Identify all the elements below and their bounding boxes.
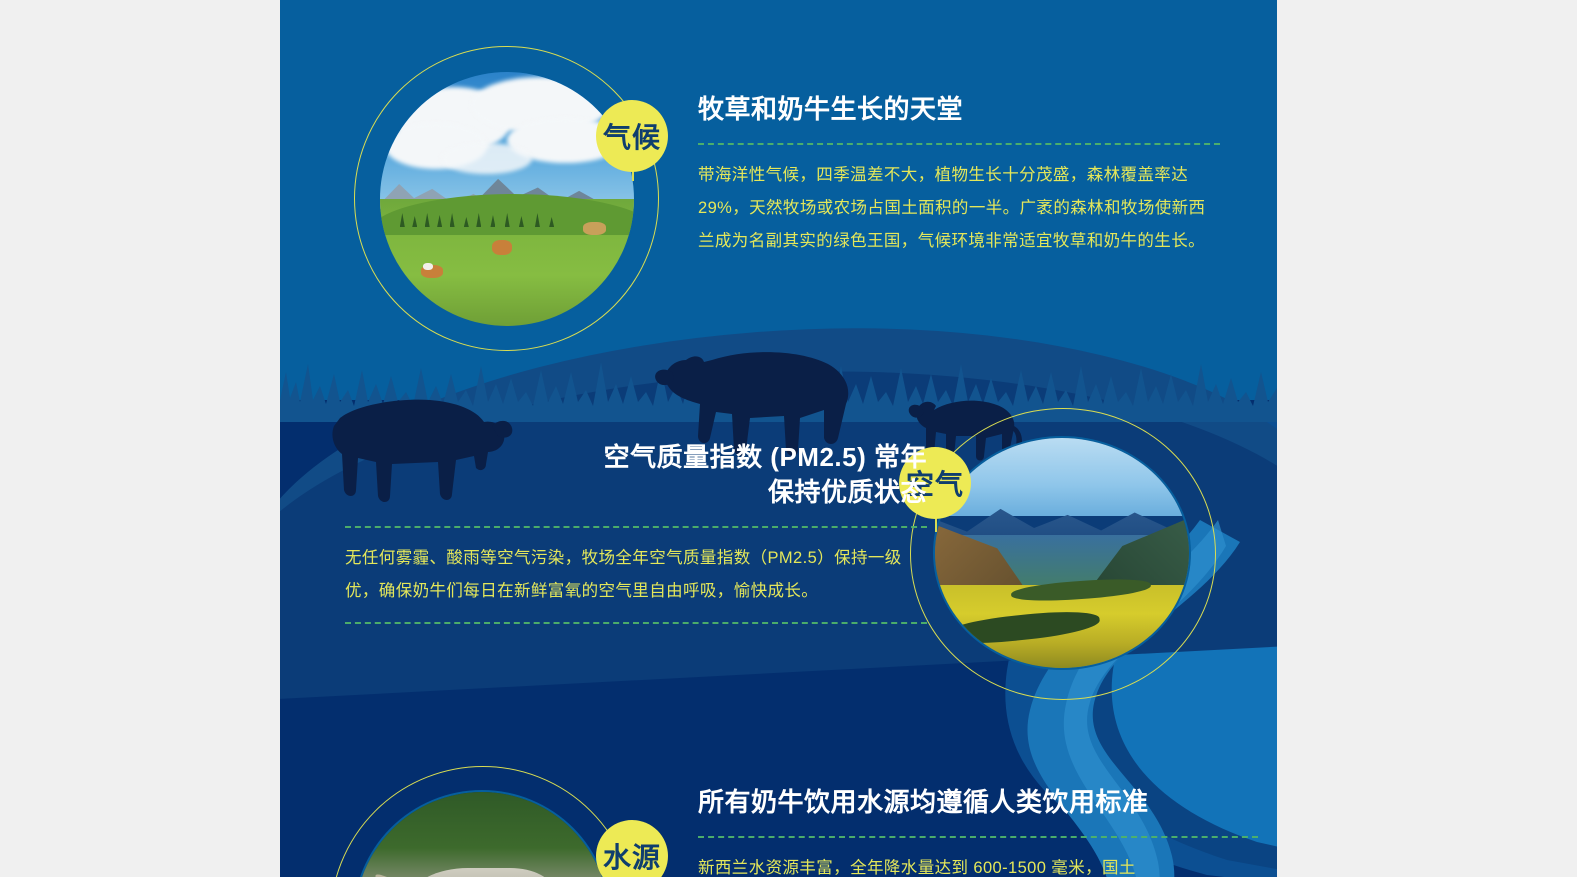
section-air-text: 空气质量指数 (PM2.5) 常年 保持优质状态 无任何雾霾、酸雨等空气污染，牧…	[345, 440, 927, 624]
section-water-text: 所有奶牛饮用水源均遵循人类饮用标准 新西兰水资源丰富，全年降水量达到 600-1…	[698, 785, 1258, 877]
headline-climate: 牧草和奶牛生长的天堂	[698, 92, 1220, 127]
divider-air-bottom	[345, 622, 927, 624]
body-water: 新西兰水资源丰富，全年降水量达到 600-1500 毫米，国土	[698, 852, 1258, 877]
section-climate-text: 牧草和奶牛生长的天堂 带海洋性气候，四季温差不大，植物生长十分茂盛，森林覆盖率达…	[698, 92, 1220, 258]
body-air: 无任何雾霾、酸雨等空气污染，牧场全年空气质量指数（PM2.5）保持一级优，确保奶…	[345, 542, 927, 608]
badge-climate: 气候	[596, 100, 668, 172]
divider-water	[698, 836, 1258, 838]
photo-alpine-meadow	[380, 72, 634, 326]
divider-air-top	[345, 526, 927, 528]
poster-stage: 气候 空气 水源 牧草和奶牛生长的天堂	[0, 0, 1577, 877]
infographic-panel: 气候 空气 水源 牧草和奶牛生长的天堂	[280, 0, 1277, 877]
headline-air-line2: 保持优质状态	[345, 475, 927, 510]
headline-water: 所有奶牛饮用水源均遵循人类饮用标准	[698, 785, 1258, 820]
photo-cow-grazing	[492, 240, 512, 255]
divider-climate	[698, 143, 1220, 145]
headline-air-line1: 空气质量指数 (PM2.5) 常年	[345, 440, 927, 475]
photo-rocky-mountain	[355, 792, 609, 877]
photo-cow-right	[583, 222, 606, 235]
body-climate: 带海洋性气候，四季温差不大，植物生长十分茂盛，森林覆盖率达 29%，天然牧场或农…	[698, 159, 1220, 258]
photo-mountain-valley	[935, 438, 1189, 668]
